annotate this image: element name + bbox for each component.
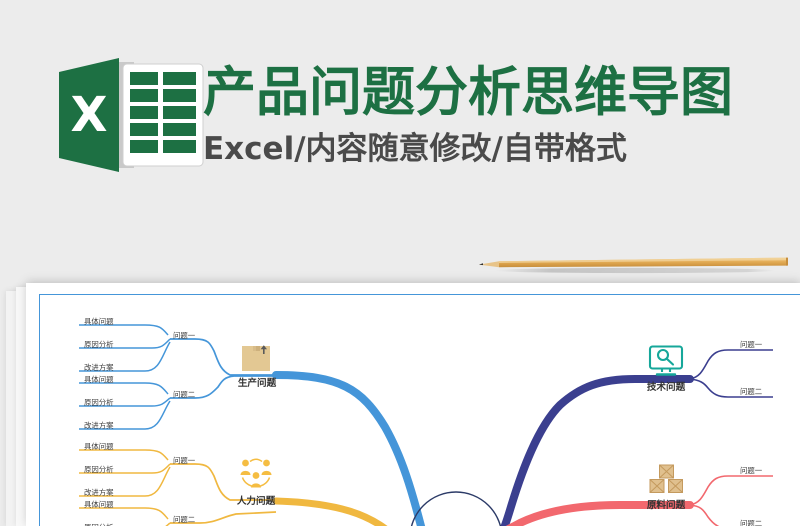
cardboard-box-icon [240, 342, 272, 377]
spine-hr [276, 501, 392, 526]
topic-label[interactable]: 问题一 [173, 330, 195, 341]
stacked-crates-icon [648, 464, 684, 499]
branch-label-raw-material[interactable]: 原料问题 [639, 497, 693, 511]
page-subtitle: Excel/内容随意修改/自带格式 [203, 130, 793, 168]
excel-logo-letter: X [70, 87, 107, 143]
leaf-label[interactable]: 具体问题 [84, 499, 114, 510]
leaf-label[interactable]: 具体问题 [84, 374, 114, 385]
monitor-search-svg [648, 345, 684, 376]
pencil-icon [455, 256, 793, 274]
pencil-svg [455, 256, 793, 274]
paper-sheet-front[interactable]: 具体问题 原因分析 改进方案 具体问题 原因分析 改进方案 问题一 问题二 具体… [26, 283, 800, 526]
branch-label-production[interactable]: 生产问题 [230, 375, 284, 389]
branch-label-human-resources[interactable]: 人力问题 [229, 493, 283, 507]
excel-logo-svg: X [57, 56, 205, 174]
people-group-icon [239, 457, 273, 494]
topic-label[interactable]: 问题一 [740, 339, 762, 350]
page-title: 产品问题分析思维导图 [203, 62, 793, 124]
topic-label[interactable]: 问题一 [740, 465, 762, 476]
leaf-label[interactable]: 改进方案 [84, 420, 114, 431]
topic-label[interactable]: 问题二 [173, 389, 195, 400]
people-group-svg [239, 457, 273, 489]
leaf-label[interactable]: 具体问题 [84, 441, 114, 452]
leaf-label[interactable]: 原因分析 [84, 522, 114, 526]
header-banner: X 产品问题分析思维导图 Excel/内容随意修改/自带格式 [0, 0, 800, 236]
cardboard-box-svg [240, 342, 272, 372]
topic-label[interactable]: 问题二 [740, 386, 762, 397]
topic-label[interactable]: 问题二 [173, 514, 195, 525]
leaf-label[interactable]: 原因分析 [84, 339, 114, 350]
leaf-label[interactable]: 原因分析 [84, 397, 114, 408]
topic-label[interactable]: 问题一 [173, 455, 195, 466]
mindmap-paper-stack: 具体问题 原因分析 改进方案 具体问题 原因分析 改进方案 问题一 问题二 具体… [0, 283, 800, 526]
leaf-label[interactable]: 改进方案 [84, 487, 114, 498]
stacked-crates-svg [648, 464, 684, 494]
monitor-search-icon [648, 345, 684, 381]
leaf-label[interactable]: 原因分析 [84, 464, 114, 475]
leaf-label[interactable]: 改进方案 [84, 362, 114, 373]
center-node-circle [410, 492, 502, 526]
mindmap-connectors [40, 295, 800, 526]
title-block: 产品问题分析思维导图 Excel/内容随意修改/自带格式 [203, 62, 793, 168]
topic-label[interactable]: 问题二 [740, 518, 762, 526]
branch-label-technology[interactable]: 技术问题 [639, 379, 693, 393]
leaf-label[interactable]: 具体问题 [84, 316, 114, 327]
excel-logo-icon: X [57, 56, 205, 174]
mindmap-canvas[interactable]: 具体问题 原因分析 改进方案 具体问题 原因分析 改进方案 问题一 问题二 具体… [39, 294, 800, 526]
